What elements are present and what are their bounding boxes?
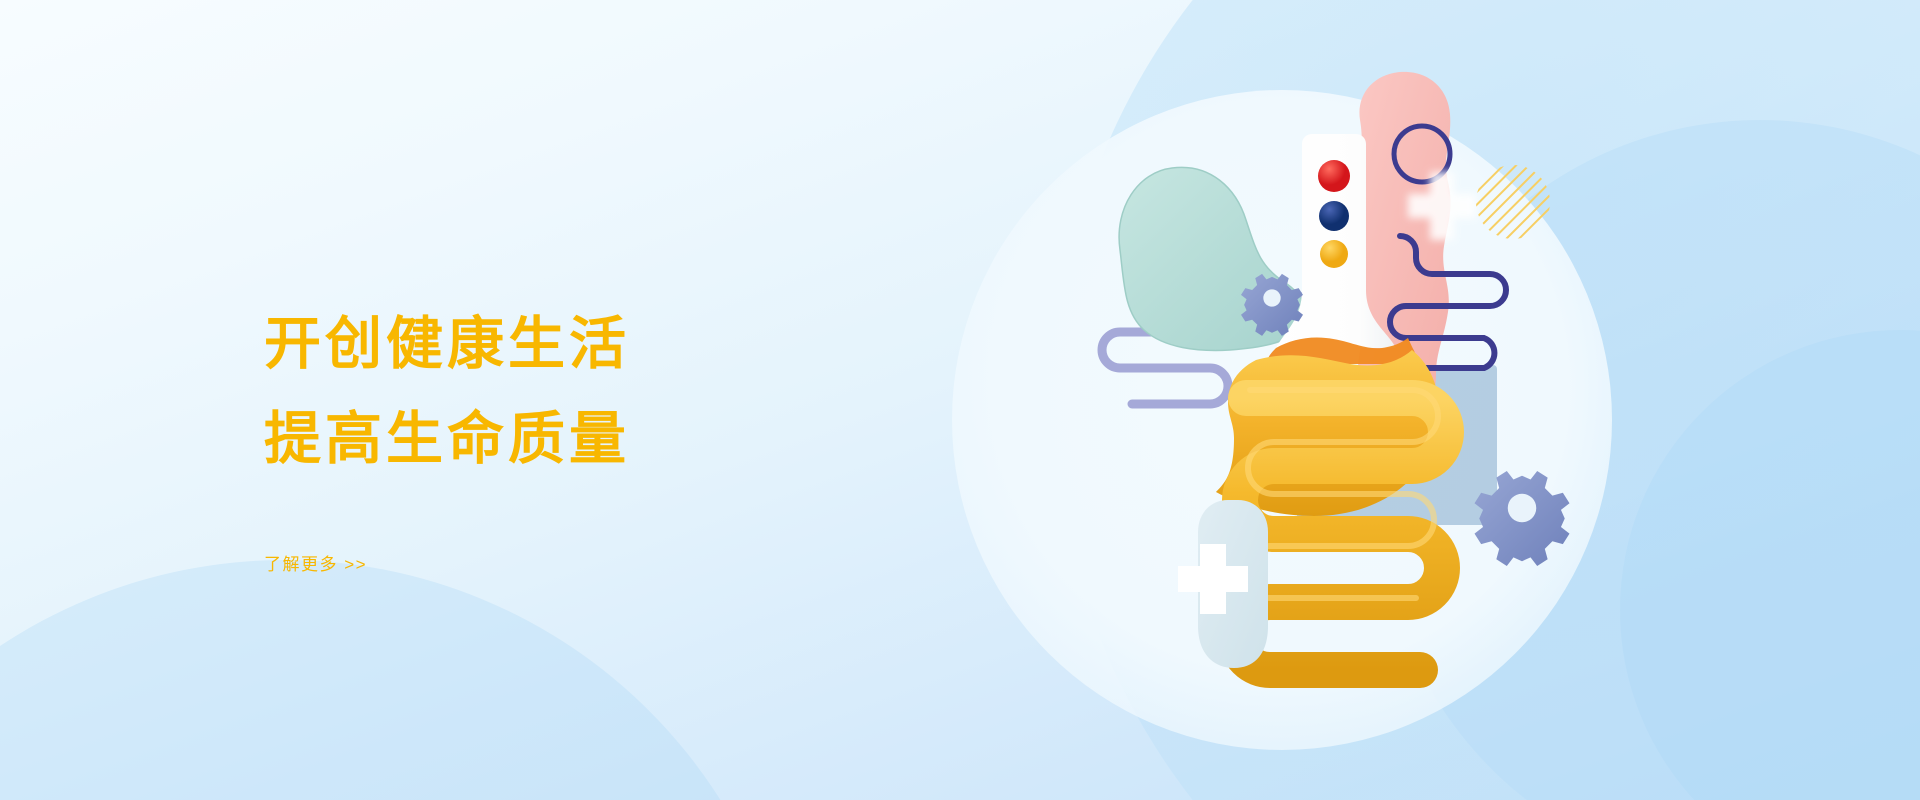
test-dot-navy	[1319, 201, 1349, 231]
hero-banner: 开创健康生活 提高生命质量 了解更多 >>	[0, 0, 1920, 800]
test-dot-red	[1318, 160, 1350, 192]
headline-line-2: 提高生命质量	[264, 395, 984, 484]
headline-line-1: 开创健康生活	[264, 300, 984, 389]
banner-copy: 开创健康生活 提高生命质量 了解更多 >>	[264, 300, 984, 575]
learn-more-link[interactable]: 了解更多 >>	[264, 550, 367, 575]
hatched-circle-yellow	[1476, 165, 1550, 239]
test-dot-yellow	[1320, 240, 1348, 268]
background-circle-bottom-left	[0, 560, 800, 800]
digestive-system-illustration	[1060, 60, 1780, 760]
